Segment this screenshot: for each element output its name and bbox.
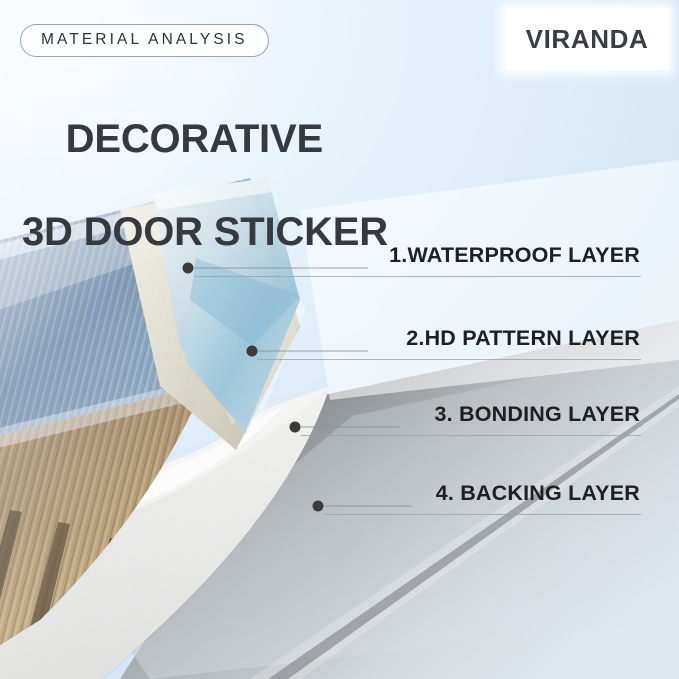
brand-name: VIRANDA — [526, 24, 649, 55]
callout-dot-4[interactable] — [313, 501, 324, 512]
callout-dot-1[interactable] — [183, 263, 194, 274]
callout-dot-3[interactable] — [290, 422, 301, 433]
material-analysis-badge: MATERIAL ANALYSIS — [20, 24, 269, 57]
callout-label-3[interactable]: 3. BONDING LAYER — [435, 402, 641, 427]
infographic-poster: MATERIAL ANALYSIS DECORATIVE 3D DOOR STI… — [0, 0, 679, 679]
callout-label-2[interactable]: 2.HD PATTERN LAYER — [406, 326, 640, 351]
callout-label-4[interactable]: 4. BACKING LAYER — [436, 481, 640, 506]
callout-dot-2[interactable] — [247, 346, 258, 357]
title-line-1: DECORATIVE — [66, 117, 323, 161]
callout-label-1[interactable]: 1.WATERPROOF LAYER — [389, 243, 640, 268]
brand-logo: VIRANDA — [505, 8, 669, 70]
title-line-2: 3D DOOR STICKER — [22, 209, 388, 255]
page-title: DECORATIVE 3D DOOR STICKER — [22, 70, 388, 348]
